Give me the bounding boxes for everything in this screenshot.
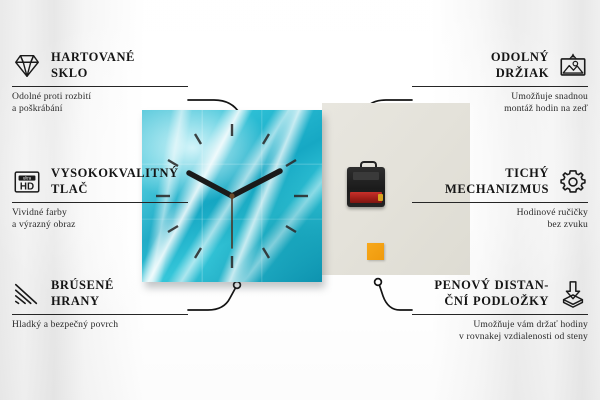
feature-title: PENOVÝ DISTAN- ČNÍ PODLOŽKY [412,278,549,309]
gear-icon [558,167,588,197]
feature-head: TICHÝ MECHANIZMUS [412,166,588,197]
down-arrow-pad-icon [558,279,588,309]
feature-title: ODOLNÝ DRŽIAK [412,50,549,81]
subtitle-line-1: Umožňuje vám držať hodiny [473,319,588,330]
battery-terminal [378,194,383,201]
foam-pad [367,243,384,260]
feature-head: BRÚSENÉ HRANY [12,278,188,309]
subtitle-line-2: a poškrábání [12,103,63,114]
feature-subtitle: Hodinové ručičky bez zvuku [412,207,588,231]
title-line-2: SKLO [51,66,88,80]
feature-divider [412,314,588,315]
title-line-1: BRÚSENÉ [51,278,114,292]
feature-divider [412,202,588,203]
icon-text-hd: HD [20,182,34,193]
feature-head: PENOVÝ DISTAN- ČNÍ PODLOŽKY [412,278,588,309]
subtitle-line-1: Umožňuje snadnou [511,91,588,102]
title-line-1: PENOVÝ DISTAN- [434,278,549,292]
subtitle-line-1: Vividné farby [12,207,67,218]
picture-hanger-icon [558,51,588,81]
title-line-2: DRŽIAK [496,66,549,80]
feature-durable-hanger[interactable]: ODOLNÝ DRŽIAK Umožňuje snadnou montáž ho… [412,50,588,115]
feature-foam-spacers[interactable]: PENOVÝ DISTAN- ČNÍ PODLOŽKY Umožňuje vám… [412,278,588,343]
subtitle-line-2: v rovnakej vzdialenosti od steny [459,331,588,342]
icon-text-ultra: ultra [23,176,32,181]
feature-subtitle: Vividné farby a výrazný obraz [12,207,188,231]
feature-subtitle: Odolné proti rozbití a poškrábání [12,91,188,115]
feature-title: BRÚSENÉ HRANY [51,278,188,309]
feature-silent-mechanism[interactable]: TICHÝ MECHANIZMUS Hodinové ručičky bez z… [412,166,588,231]
feature-head: HARTOVANÉ SKLO [12,50,188,81]
clock-hour-hand [189,173,232,196]
title-line-2: HRANY [51,294,100,308]
diamond-icon [12,51,42,81]
feature-subtitle: Umožňuje snadnou montáž hodin na zeď [412,91,588,115]
feature-subtitle: Umožňuje vám držať hodiny v rovnakej vzd… [412,319,588,343]
feature-subtitle: Hladký a bezpečný povrch [12,319,188,331]
feature-head: ODOLNÝ DRŽIAK [412,50,588,81]
mechanism-notch [353,172,379,180]
subtitle-line-2: montáž hodin na zeď [504,103,588,114]
connector-line-6 [379,284,412,310]
title-line-2: TLAČ [51,182,88,196]
subtitle-line-2: bez zvuku [547,219,588,230]
feature-divider [12,314,188,315]
title-line-2: MECHANIZMUS [445,182,549,196]
title-line-1: HARTOVANÉ [51,50,135,64]
feature-high-quality-print[interactable]: ultra HD VYSOKOKVALITNÝ TLAČ Vividné far… [12,166,188,231]
feature-divider [412,86,588,87]
feature-divider [12,86,188,87]
feature-title: HARTOVANÉ SKLO [51,50,188,81]
subtitle-line-1: Odolné proti rozbití [12,91,91,102]
title-line-1: VYSOKOKVALITNÝ [51,166,179,180]
title-line-2: ČNÍ PODLOŽKY [444,294,549,308]
infographic-canvas: HARTOVANÉ SKLO Odolné proti rozbití a po… [0,0,600,400]
title-line-1: TICHÝ [505,166,549,180]
feature-divider [12,202,188,203]
connector-line-3 [188,287,236,310]
feature-title: TICHÝ MECHANIZMUS [412,166,549,197]
title-line-1: ODOLNÝ [491,50,549,64]
feature-beveled-edges[interactable]: BRÚSENÉ HRANY Hladký a bezpečný povrch [12,278,188,331]
subtitle-line-1: Hladký a bezpečný povrch [12,319,118,330]
clock-center-cap [229,193,234,198]
feature-title: VYSOKOKVALITNÝ TLAČ [51,166,188,197]
subtitle-line-1: Hodinové ručičky [517,207,588,218]
clock-minute-hand [232,171,280,196]
feature-head: ultra HD VYSOKOKVALITNÝ TLAČ [12,166,188,197]
subtitle-line-2: a výrazný obraz [12,219,76,230]
feature-tempered-glass[interactable]: HARTOVANÉ SKLO Odolné proti rozbití a po… [12,50,188,115]
beveled-edge-icon [12,279,42,309]
connector-node-6 [375,279,382,286]
ultra-hd-icon: ultra HD [12,167,42,197]
